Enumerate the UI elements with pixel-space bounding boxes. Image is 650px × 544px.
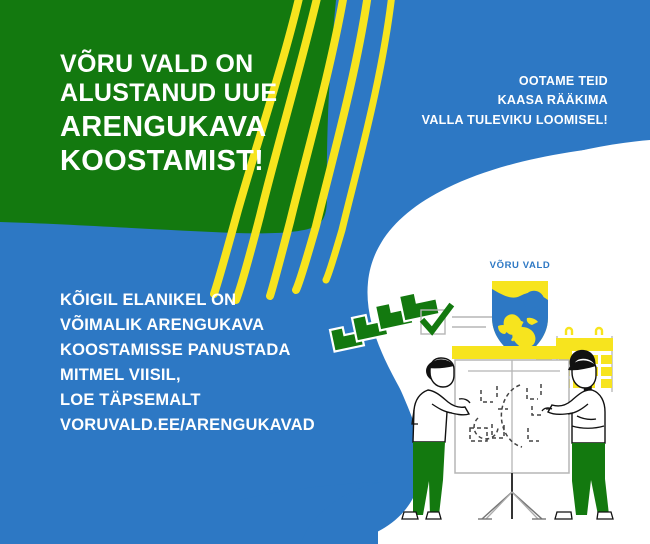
person-right-pants	[572, 443, 609, 515]
top-right-message: OOTAME TEID KAASA RÄÄKIMA VALLA TULEVIKU…	[422, 72, 608, 130]
flipchart-header-bar	[452, 346, 572, 359]
body-line-3: KOOSTAMISSE PANUSTADA	[60, 338, 315, 363]
top-right-line-1: OOTAME TEID	[422, 72, 608, 91]
top-right-line-3: VALLA TULEVIKU LOOMISEL!	[422, 111, 608, 130]
body-line-5: LOE TÄPSEMALT	[60, 388, 315, 413]
checklist-icon	[421, 307, 500, 334]
flipchart	[452, 346, 572, 519]
headline-block: VÕRU VALD ON ALUSTANUD UUE ARENGUKAVA KO…	[60, 50, 340, 178]
coat-of-arms-label: VÕRU VALD	[470, 260, 570, 271]
body-line-2: VÕIMALIK ARENGUKAVA	[60, 313, 315, 338]
poster-canvas: VÕRU VALD VÕRU VALD ON ALUSTANUD UUE ARE…	[0, 0, 650, 544]
top-right-line-2: KAASA RÄÄKIMA	[422, 91, 608, 110]
headline-line-3: ARENGUKAVA	[60, 111, 340, 145]
body-line-4: MITMEL VIISIL,	[60, 363, 315, 388]
headline-line-1: VÕRU VALD ON	[60, 50, 340, 79]
body-line-1: KÕIGIL ELANIKEL ON	[60, 288, 315, 313]
body-line-6-url[interactable]: VORUVALD.EE/ARENGUKAVAD	[60, 413, 315, 438]
headline-line-2: ALUSTANUD UUE	[60, 79, 340, 108]
body-message: KÕIGIL ELANIKEL ON VÕIMALIK ARENGUKAVA K…	[60, 288, 315, 438]
person-left-pants	[413, 442, 445, 515]
headline-line-4: KOOSTAMIST!	[60, 145, 340, 179]
